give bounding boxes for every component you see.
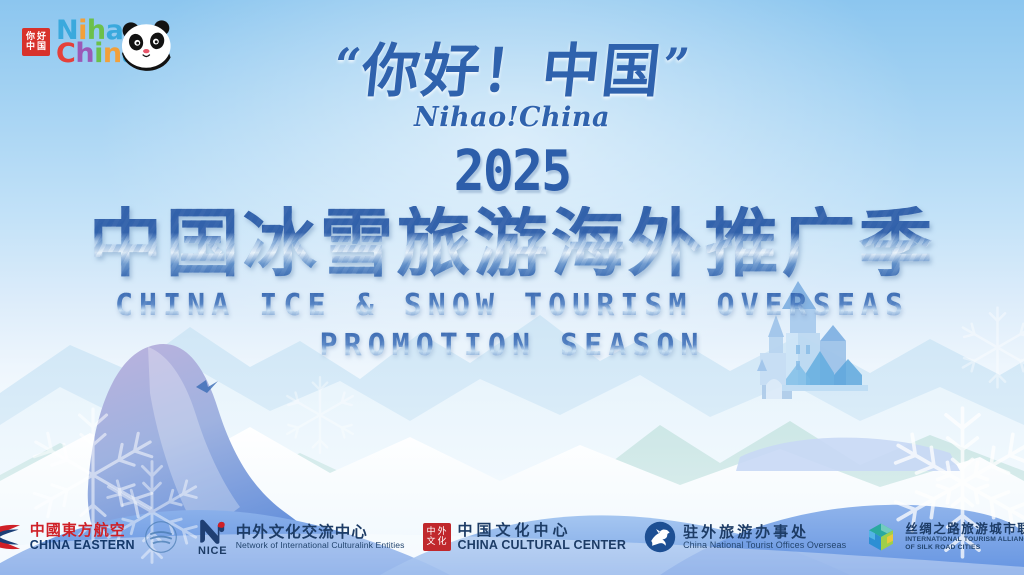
seal-char: 中 — [426, 527, 437, 537]
nihao-english-subtitle: Nihao!China — [0, 102, 1024, 133]
skyteam-mark-icon — [143, 519, 179, 555]
main-title-english-line2: PROMOTION SEASON — [0, 328, 1024, 365]
calligraphy-title: “你好！中国” — [0, 42, 1024, 100]
poster-canvas: 你 好 中 国 N i h a o C h i n a — [0, 0, 1024, 575]
flying-horse-mark-icon — [644, 521, 676, 553]
logo-silk-road-alliance[interactable]: 丝绸之路旅游城市联盟 INTERNATIONAL TOURISM ALLIANC… — [855, 515, 1024, 559]
snowflake-icon — [275, 370, 365, 460]
cnto-cn: 驻外旅游办事处 — [683, 524, 846, 541]
nice-mark-icon — [197, 518, 229, 544]
seal-char: 化 — [437, 537, 448, 547]
silk-en-line2: OF SILK ROAD CITIES — [905, 544, 1024, 552]
logo-nice[interactable]: NICE 中外文化交流中心 Network of International C… — [188, 515, 414, 559]
red-seal-mark-icon: 中 外 文 化 — [423, 523, 451, 551]
logo-china-eastern[interactable]: 中國東方航空 CHINA EASTERN — [0, 515, 188, 559]
year-label: 2025 — [41, 139, 983, 204]
nice-cn: 中外文化交流中心 — [236, 524, 405, 541]
nice-abbr: NICE — [198, 545, 227, 557]
cube-mark-icon — [864, 522, 898, 552]
nice-text: 中外文化交流中心 Network of International Cultur… — [236, 524, 405, 551]
quote-close: ” — [660, 38, 694, 92]
nice-en: Network of International Culturalink Ent… — [236, 541, 405, 551]
china-eastern-text: 中國東方航空 CHINA EASTERN — [30, 522, 135, 553]
china-eastern-en: CHINA EASTERN — [30, 538, 135, 552]
hero-title-block: “你好！中国” Nihao!China 2025 中国冰雪旅游海外推广季 CHI… — [0, 0, 1024, 365]
ccc-text: 中国文化中心 CHINA CULTURAL CENTER — [458, 522, 627, 553]
logo-china-cultural-center[interactable]: 中 外 文 化 中国文化中心 CHINA CULTURAL CENTER — [414, 515, 636, 559]
seal-char: 外 — [437, 527, 448, 537]
ccc-cn: 中国文化中心 — [458, 522, 627, 539]
silk-cn: 丝绸之路旅游城市联盟 — [905, 522, 1024, 536]
seal-char: 文 — [426, 537, 437, 547]
calligraphy-text: 你好！中国 — [358, 37, 665, 105]
main-title-chinese: 中国冰雪旅游海外推广季 — [0, 206, 1024, 284]
cnto-en: China National Tourist Offices Overseas — [683, 540, 846, 550]
silk-en-line1: INTERNATIONAL TOURISM ALLIANCE — [905, 536, 1024, 544]
ccc-en: CHINA CULTURAL CENTER — [458, 538, 627, 552]
swallow-mark-icon — [0, 522, 23, 552]
partner-logo-bar: 中國東方航空 CHINA EASTERN NICE 中外文化交流中心 — [0, 513, 1024, 561]
silk-text: 丝绸之路旅游城市联盟 INTERNATIONAL TOURISM ALLIANC… — [905, 522, 1024, 553]
china-eastern-cn: 中國東方航空 — [30, 522, 135, 539]
cnto-text: 驻外旅游办事处 China National Tourist Offices O… — [683, 524, 846, 551]
main-title-english-line1: CHINA ICE & SNOW TOURISM OVERSEAS — [0, 288, 1024, 325]
logo-cnto[interactable]: 驻外旅游办事处 China National Tourist Offices O… — [635, 515, 855, 559]
